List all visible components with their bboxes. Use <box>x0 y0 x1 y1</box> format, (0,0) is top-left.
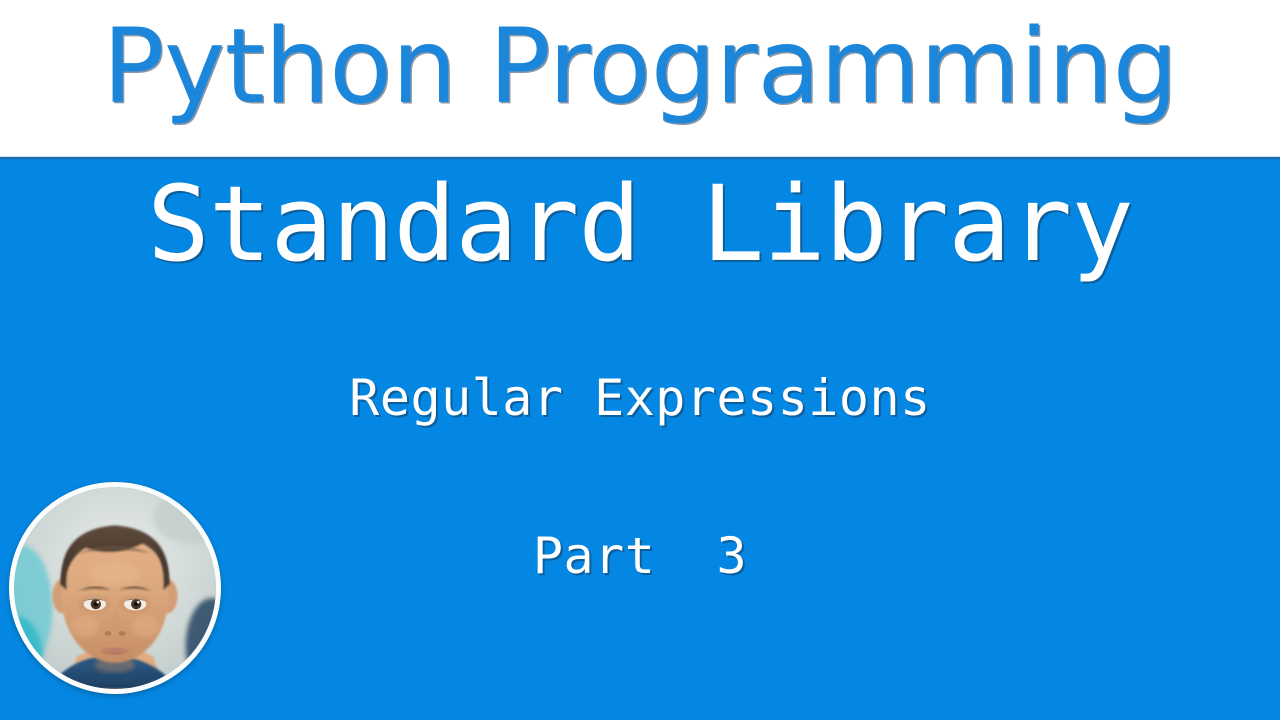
topic-subtitle: Regular Expressions <box>0 371 1280 426</box>
presenter-webcam-avatar <box>9 482 221 694</box>
course-title: Python Programming <box>0 16 1280 119</box>
header-divider <box>0 156 1280 160</box>
slide-canvas: Python Programming Standard Library Regu… <box>0 0 1280 720</box>
section-title: Standard Library <box>0 168 1280 280</box>
header-band: Python Programming <box>0 0 1280 158</box>
avatar-photo <box>14 487 216 689</box>
